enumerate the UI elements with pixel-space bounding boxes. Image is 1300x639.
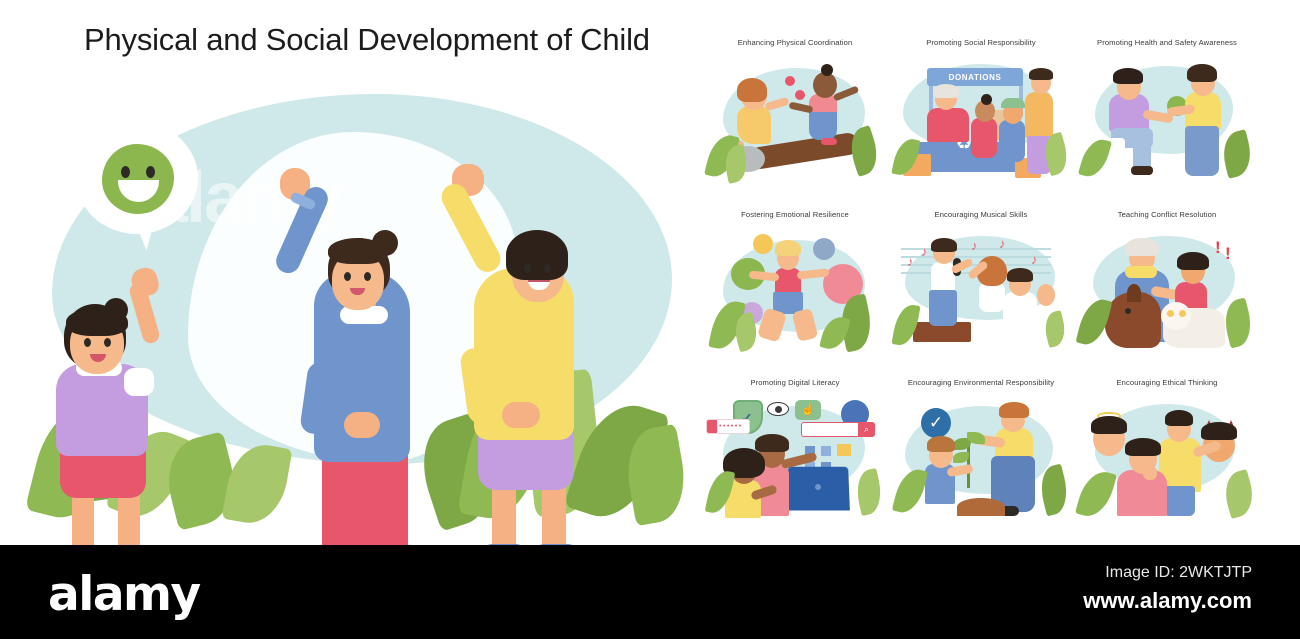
ball-red [795, 90, 805, 100]
girl-eye [84, 338, 91, 347]
mother-hair [1187, 64, 1217, 82]
leaf [853, 468, 886, 516]
volunteer-man-body [927, 108, 969, 142]
scene-cell[interactable]: Promoting Health and Safety Awareness [1077, 38, 1257, 193]
ui-tile [837, 444, 851, 456]
scene-cell[interactable]: Enhancing Physical Coordination [705, 38, 885, 193]
scene-grid: Enhancing Physical Coordination [705, 38, 1280, 538]
woman-hand-on-waist [344, 412, 380, 438]
grandfather-hair [1125, 238, 1159, 256]
alamy-logo: alamy [48, 567, 200, 622]
scene-art-physical-coordination [709, 54, 881, 186]
man-hand-on-waist [502, 402, 540, 428]
grandfather-collar [1125, 266, 1157, 278]
child-girl-right-bun [821, 64, 833, 76]
man-hair [1007, 268, 1033, 282]
scene-art-health-safety [1081, 54, 1253, 186]
password-field[interactable]: •••••• [707, 420, 749, 433]
child-hair [1177, 252, 1209, 270]
adult-man-body [1025, 92, 1053, 138]
scene-label: Promoting Digital Literacy [705, 378, 885, 388]
child-shoe [821, 138, 837, 145]
hero-illustration: alamy [28, 72, 688, 537]
scene-cell[interactable]: Encouraging Musical Skills ♪ ♪ ♪ ♪ ♪ [891, 210, 1071, 365]
page-title: Physical and Social Development of Child [84, 22, 650, 58]
scene-label: Encouraging Ethical Thinking [1077, 378, 1257, 388]
scene-label: Promoting Health and Safety Awareness [1077, 38, 1257, 48]
cat-eye [1179, 310, 1186, 317]
leaf [1075, 467, 1117, 521]
child-boy-cap [1001, 98, 1025, 108]
emotion-face-yellow [753, 234, 773, 254]
smiley-eye-right [146, 166, 155, 178]
watermark-footer: alamy Image ID: 2WKTJTP www.alamy.com [0, 545, 1300, 639]
girl-sleeve [124, 368, 154, 396]
woman-eye [344, 272, 351, 281]
leaf [1219, 469, 1258, 519]
child-girl-body [971, 118, 997, 158]
singer-pants [929, 290, 957, 326]
music-note-icon: ♪ [1031, 252, 1038, 267]
laptop [786, 467, 850, 511]
lock-icon [707, 420, 717, 433]
illustration-canvas: Physical and Social Development of Child… [0, 0, 1300, 639]
soil-mound [957, 498, 1005, 516]
child-girl-bun [981, 94, 992, 105]
search-icon[interactable]: ⌕ [858, 422, 875, 437]
girl-eye [104, 338, 111, 347]
music-note-icon: ♪ [999, 236, 1006, 251]
mother-pants [1185, 126, 1219, 176]
angel-hair [1091, 416, 1127, 434]
ball-red [785, 76, 795, 86]
scene-art-environmental-responsibility: ✓ [895, 394, 1067, 526]
leaf [221, 440, 292, 529]
scene-art-digital-literacy: ✓ ☝ •••••• ⌕ [709, 394, 881, 526]
child-girl-left-body [737, 106, 771, 144]
scene-cell[interactable]: Encouraging Ethical Thinking [1077, 378, 1257, 533]
singer-hair [931, 238, 957, 252]
scene-label: Fostering Emotional Resilience [705, 210, 885, 220]
man-pants [1163, 486, 1195, 516]
boy-hand-on-chin [1143, 466, 1157, 480]
verified-check-badge: ✓ [921, 408, 951, 438]
scene-cell[interactable]: Fostering Emotional Resilience [705, 210, 885, 365]
emotion-face-blue [813, 238, 835, 260]
scene-art-conflict-resolution: ! ! [1081, 226, 1253, 358]
scene-cell[interactable]: Teaching Conflict Resolution ! ! [1077, 210, 1257, 365]
search-input[interactable]: ⌕ [801, 422, 875, 437]
leaf [1218, 129, 1256, 178]
girl-hair-fringe [66, 308, 128, 336]
man-hair [1165, 410, 1193, 426]
scene-art-social-responsibility: DONATIONS ♻ [895, 54, 1067, 186]
scene-label: Encouraging Environmental Responsibility [891, 378, 1071, 388]
laptop-logo [815, 484, 821, 490]
man-leg [542, 480, 566, 554]
thumbs-up-icon: ☝ [795, 400, 821, 420]
exclamation-icon: ! [1225, 246, 1231, 261]
man-leg [492, 480, 516, 554]
scene-art-musical-skills: ♪ ♪ ♪ ♪ ♪ [895, 226, 1067, 358]
dog-eye [1125, 308, 1131, 314]
child-boy-body [999, 120, 1025, 162]
eye-icon [767, 402, 789, 416]
woman-hair-fringe [328, 238, 386, 264]
boy-hair [775, 240, 801, 256]
cat-eye [1167, 310, 1174, 317]
music-note-icon: ♪ [921, 244, 928, 259]
exclamation-icon: ! [1215, 240, 1221, 255]
leaf [1078, 135, 1112, 180]
boy-body [1117, 470, 1167, 516]
devil-hair [1201, 422, 1237, 440]
leaf [1220, 298, 1256, 349]
man-eye [524, 264, 531, 273]
adult-man-hair [1029, 68, 1053, 80]
mother-hair-bun [999, 402, 1029, 418]
boy-hair [755, 434, 789, 452]
man-eye [544, 264, 551, 273]
scene-label: Teaching Conflict Resolution [1077, 210, 1257, 220]
ui-tile [821, 446, 831, 456]
scene-art-emotional-resilience [709, 226, 881, 358]
boy-hair [1113, 68, 1143, 84]
music-note-icon: ♪ [907, 254, 914, 269]
scene-label: Encouraging Musical Skills [891, 210, 1071, 220]
sapling-leaf [967, 432, 985, 444]
woman-eye [364, 272, 371, 281]
leaf [892, 466, 928, 517]
music-note-icon: ♪ [971, 238, 978, 253]
leaf [1076, 296, 1113, 349]
cat-head [1161, 302, 1191, 330]
website-url-text: www.alamy.com [952, 588, 1252, 614]
scene-cell[interactable]: Promoting Digital Literacy ✓ ☝ •••••• ⌕ [705, 378, 885, 533]
dog-ear [1127, 284, 1141, 302]
man-hand-raised [1037, 284, 1055, 306]
man-body [1003, 292, 1037, 338]
man-hair [506, 230, 568, 280]
boy-shoe [1131, 166, 1153, 175]
volunteer-man-hair [933, 84, 959, 98]
smiley-eye-left [121, 166, 130, 178]
green-smiley-icon [102, 144, 174, 214]
scene-cell[interactable]: Encouraging Environmental Responsibility… [891, 378, 1071, 533]
scene-label: Promoting Social Responsibility [891, 38, 1071, 48]
scene-cell[interactable]: Promoting Social Responsibility DONATION… [891, 38, 1071, 193]
image-id-text: Image ID: 2WKTJTP [952, 564, 1252, 582]
leaf [1041, 310, 1069, 348]
scene-art-ethical-thinking [1081, 394, 1253, 526]
scene-label: Enhancing Physical Coordination [705, 38, 885, 48]
girl-body [979, 282, 1005, 312]
smiley-mouth [118, 180, 159, 202]
boy-hair [1125, 438, 1161, 456]
child-girl-left-hair [737, 78, 767, 102]
child-hair [927, 436, 955, 452]
